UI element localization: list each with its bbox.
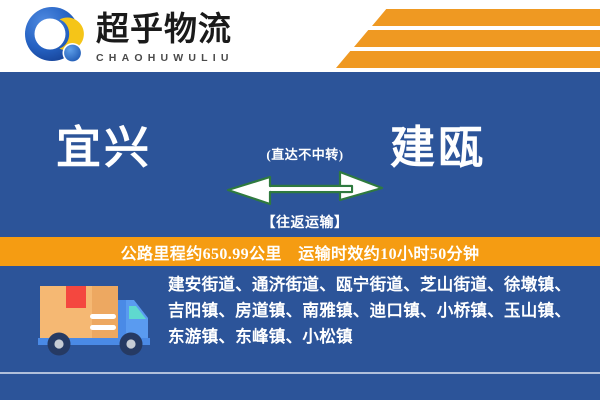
destination-city-name: 建瓯 [390,126,486,171]
coverage-area-list: 建安街道、通济街道、瓯宁街道、芝山街道、徐墩镇、 吉阳镇、房道镇、南雅镇、迪口镇… [168,272,580,350]
coverage-line: 东游镇、东峰镇、小松镇 [168,324,580,350]
logistics-route-banner: 超乎物流 CHAOHUWULIU 宜兴 (直达不中转) [0,0,600,400]
stripe-3 [336,51,600,68]
bottom-divider [0,372,600,374]
route-stats-text: 公路里程约650.99公里 运输时效约10小时50分钟 [121,240,480,264]
coverage-line: 吉阳镇、房道镇、南雅镇、迪口镇、小桥镇、玉山镇、 [168,298,580,324]
banner-header: 超乎物流 CHAOHUWULIU [0,0,600,72]
delivery-truck-icon [30,274,158,358]
brand-name-en: CHAOHUWULIU [96,52,234,65]
banner-body-panel: 宜兴 (直达不中转) 【往返运输】 建瓯 [0,72,600,400]
stripe-2 [354,30,600,47]
route-middle-group: (直达不中转) 【往返运输】 [225,100,385,228]
brand-text-block: 超乎物流 CHAOHUWULIU [96,10,234,65]
origin-city-name: 宜兴 [56,126,152,171]
orange-chevron-stripes-icon [300,0,600,72]
coverage-section: 建安街道、通济街道、瓯宁街道、芝山街道、徐墩镇、 吉阳镇、房道镇、南雅镇、迪口镇… [0,266,600,372]
coverage-line: 建安街道、通济街道、瓯宁街道、芝山街道、徐墩镇、 [168,272,580,298]
double-headed-arrow-icon [222,166,388,212]
stripe-1 [372,9,600,26]
route-stats-bar: 公路里程约650.99公里 运输时效约10小时50分钟 [0,237,600,266]
circle-crescent-logo-icon [24,6,86,68]
brand-name-cn: 超乎物流 [96,12,234,49]
route-row: 宜兴 (直达不中转) 【往返运输】 建瓯 [0,100,600,228]
route-note-roundtrip: 【往返运输】 [225,212,385,232]
brand-logo-lockup: 超乎物流 CHAOHUWULIU [24,6,234,68]
route-note-direct: (直达不中转) [225,144,385,163]
